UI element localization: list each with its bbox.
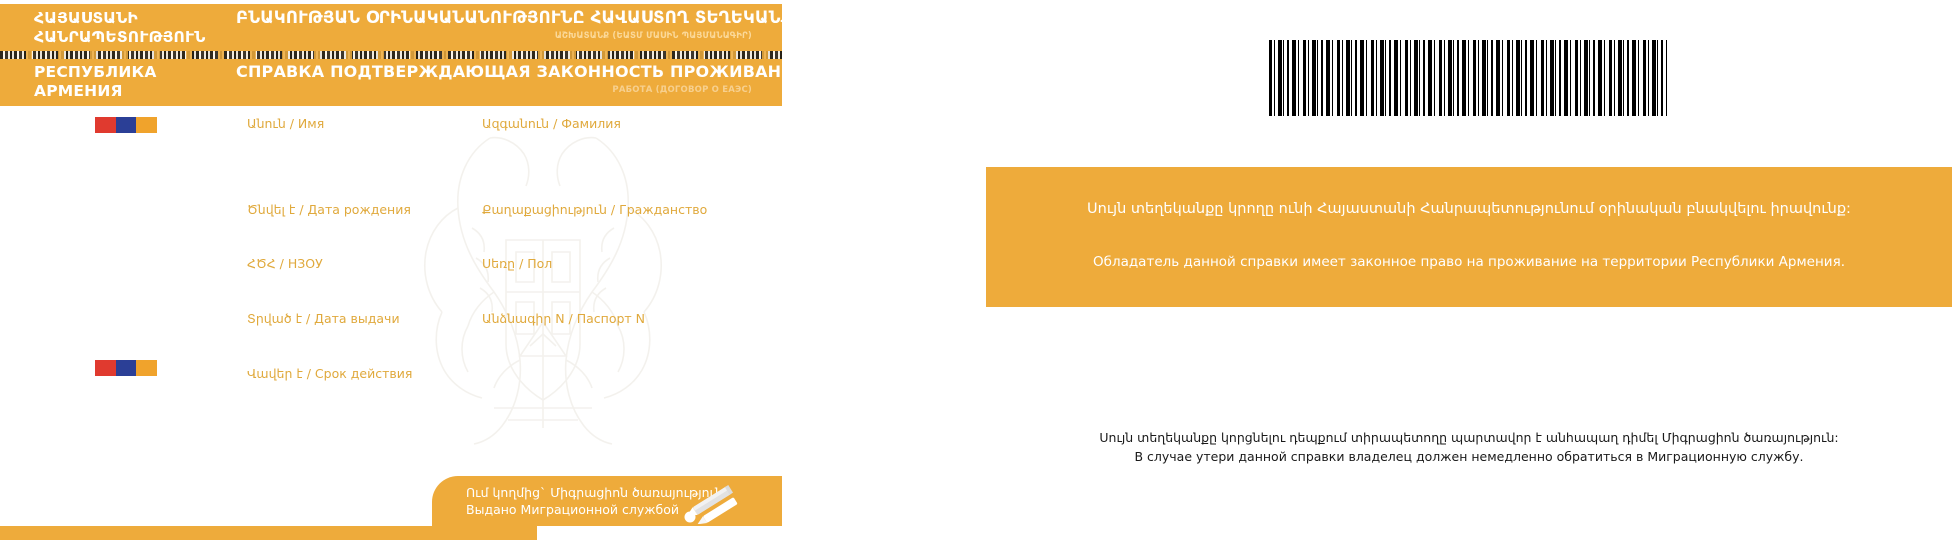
field-label-ssn: ՀԾՀ / НЗОУ [247,256,323,271]
field-label-issue-date: Տրված է / Дата выдачи [247,311,400,326]
country-name-hy-line1: ՀԱՅԱՍՏԱՆԻ [34,9,138,27]
field-label-passport-no: Անձնագիր N / Паспорт N [482,311,645,326]
header-subtitle-armenian: ԱՇԽԱՏԱՆՔ (ԵԱՏՄ ՄԱՍԻՆ ՊԱՅՄԱՆԱԳԻՐ) [236,31,782,41]
country-name-ru-line1: РЕСПУБЛИКА [34,63,157,81]
right-panel: Սույն տեղեկանքը կրողը ունի Հայաստանի Հան… [986,0,1952,544]
field-label-last-name: Ազգանուն / Фамилия [482,116,621,131]
rights-notice-armenian: Սույն տեղեկանքը կրողը ունի Հայաստանի Հան… [1004,201,1934,217]
country-name-hy-line2: ՀԱՆՐԱՊԵՏՈՒԹՅՈՒՆ [34,28,244,47]
armenia-flag-icon [95,360,157,376]
issuer-footer: Ում կողմից` Միգրացիոն ծառայություն Выдан… [432,476,782,526]
field-label-sex: Սեռը / Пол [482,256,552,271]
country-name-ru-line2: АРМЕНИЯ [34,82,244,101]
rights-notice-box: Սույն տեղեկանքը կրողը ունի Հայաստանի Հան… [986,167,1952,307]
header-title-russian-wrap: СПРАВКА ПОДТВЕРЖДАЮЩАЯ ЗАКОННОСТЬ ПРОЖИВ… [236,62,782,95]
field-label-citizenship: Քաղաքացիություն / Гражданство [482,202,707,217]
header-title-russian: СПРАВКА ПОДТВЕРЖДАЮЩАЯ ЗАКОННОСТЬ ПРОЖИВ… [236,62,782,82]
country-name-russian: РЕСПУБЛИКА АРМЕНИЯ [34,63,244,101]
field-label-first-name: Անուն / Имя [247,116,324,131]
header-subtitle-russian: РАБОТА (ДОГОВОР О ЕАЭС) [236,85,782,95]
armenia-coat-of-arms-icon [398,108,688,448]
header-band-russian: РЕСПУБЛИКА АРМЕНИЯ СПРАВКА ПОДТВЕРЖДАЮЩА… [0,58,782,106]
rights-notice-russian: Обладатель данной справки имеет законное… [1004,254,1934,270]
loss-instructions-armenian: Սույն տեղեկանքը կորցնելու դեպքում տիրապե… [986,428,1952,447]
field-label-birth-date: Ծնվել է / Дата рождения [247,202,411,217]
armenia-flag-icon [95,117,157,133]
card-bottom-strip [0,526,537,540]
header-band-armenian: ՀԱՅԱՍՏԱՆԻ ՀԱՆՐԱՊԵՏՈՒԹՅՈՒՆ ԲՆԱԿՈՒԹՅԱՆ ՕՐԻ… [0,4,782,52]
field-label-valid-until: Վավեր է / Срок действия [247,366,412,381]
header-title-armenian-wrap: ԲՆԱԿՈՒԹՅԱՆ ՕՐԻՆԱԿԱՆԱՆՈՒԹՅՈՒՆԸ ՀԱՎԱՍՏՈՂ Տ… [236,8,782,41]
header-title-armenian: ԲՆԱԿՈՒԹՅԱՆ ՕՐԻՆԱԿԱՆԱՆՈՒԹՅՈՒՆԸ ՀԱՎԱՍՏՈՂ Տ… [236,8,782,28]
card-header: ՀԱՅԱՍՏԱՆԻ ՀԱՆՐԱՊԵՏՈՒԹՅՈՒՆ ԲՆԱԿՈՒԹՅԱՆ ՕՐԻ… [0,4,782,106]
pencil-icon [678,484,748,524]
country-name-armenian: ՀԱՅԱՍՏԱՆԻ ՀԱՆՐԱՊԵՏՈՒԹՅՈՒՆ [34,9,244,47]
loss-instructions: Սույն տեղեկանքը կորցնելու դեպքում տիրապե… [986,428,1952,466]
loss-instructions-russian: В случае утери данной справки владелец д… [986,447,1952,466]
certificate-card: ՀԱՅԱՍՏԱՆԻ ՀԱՆՐԱՊԵՏՈՒԹՅՈՒՆ ԲՆԱԿՈՒԹՅԱՆ ՕՐԻ… [0,0,782,544]
barcode [1269,40,1667,116]
